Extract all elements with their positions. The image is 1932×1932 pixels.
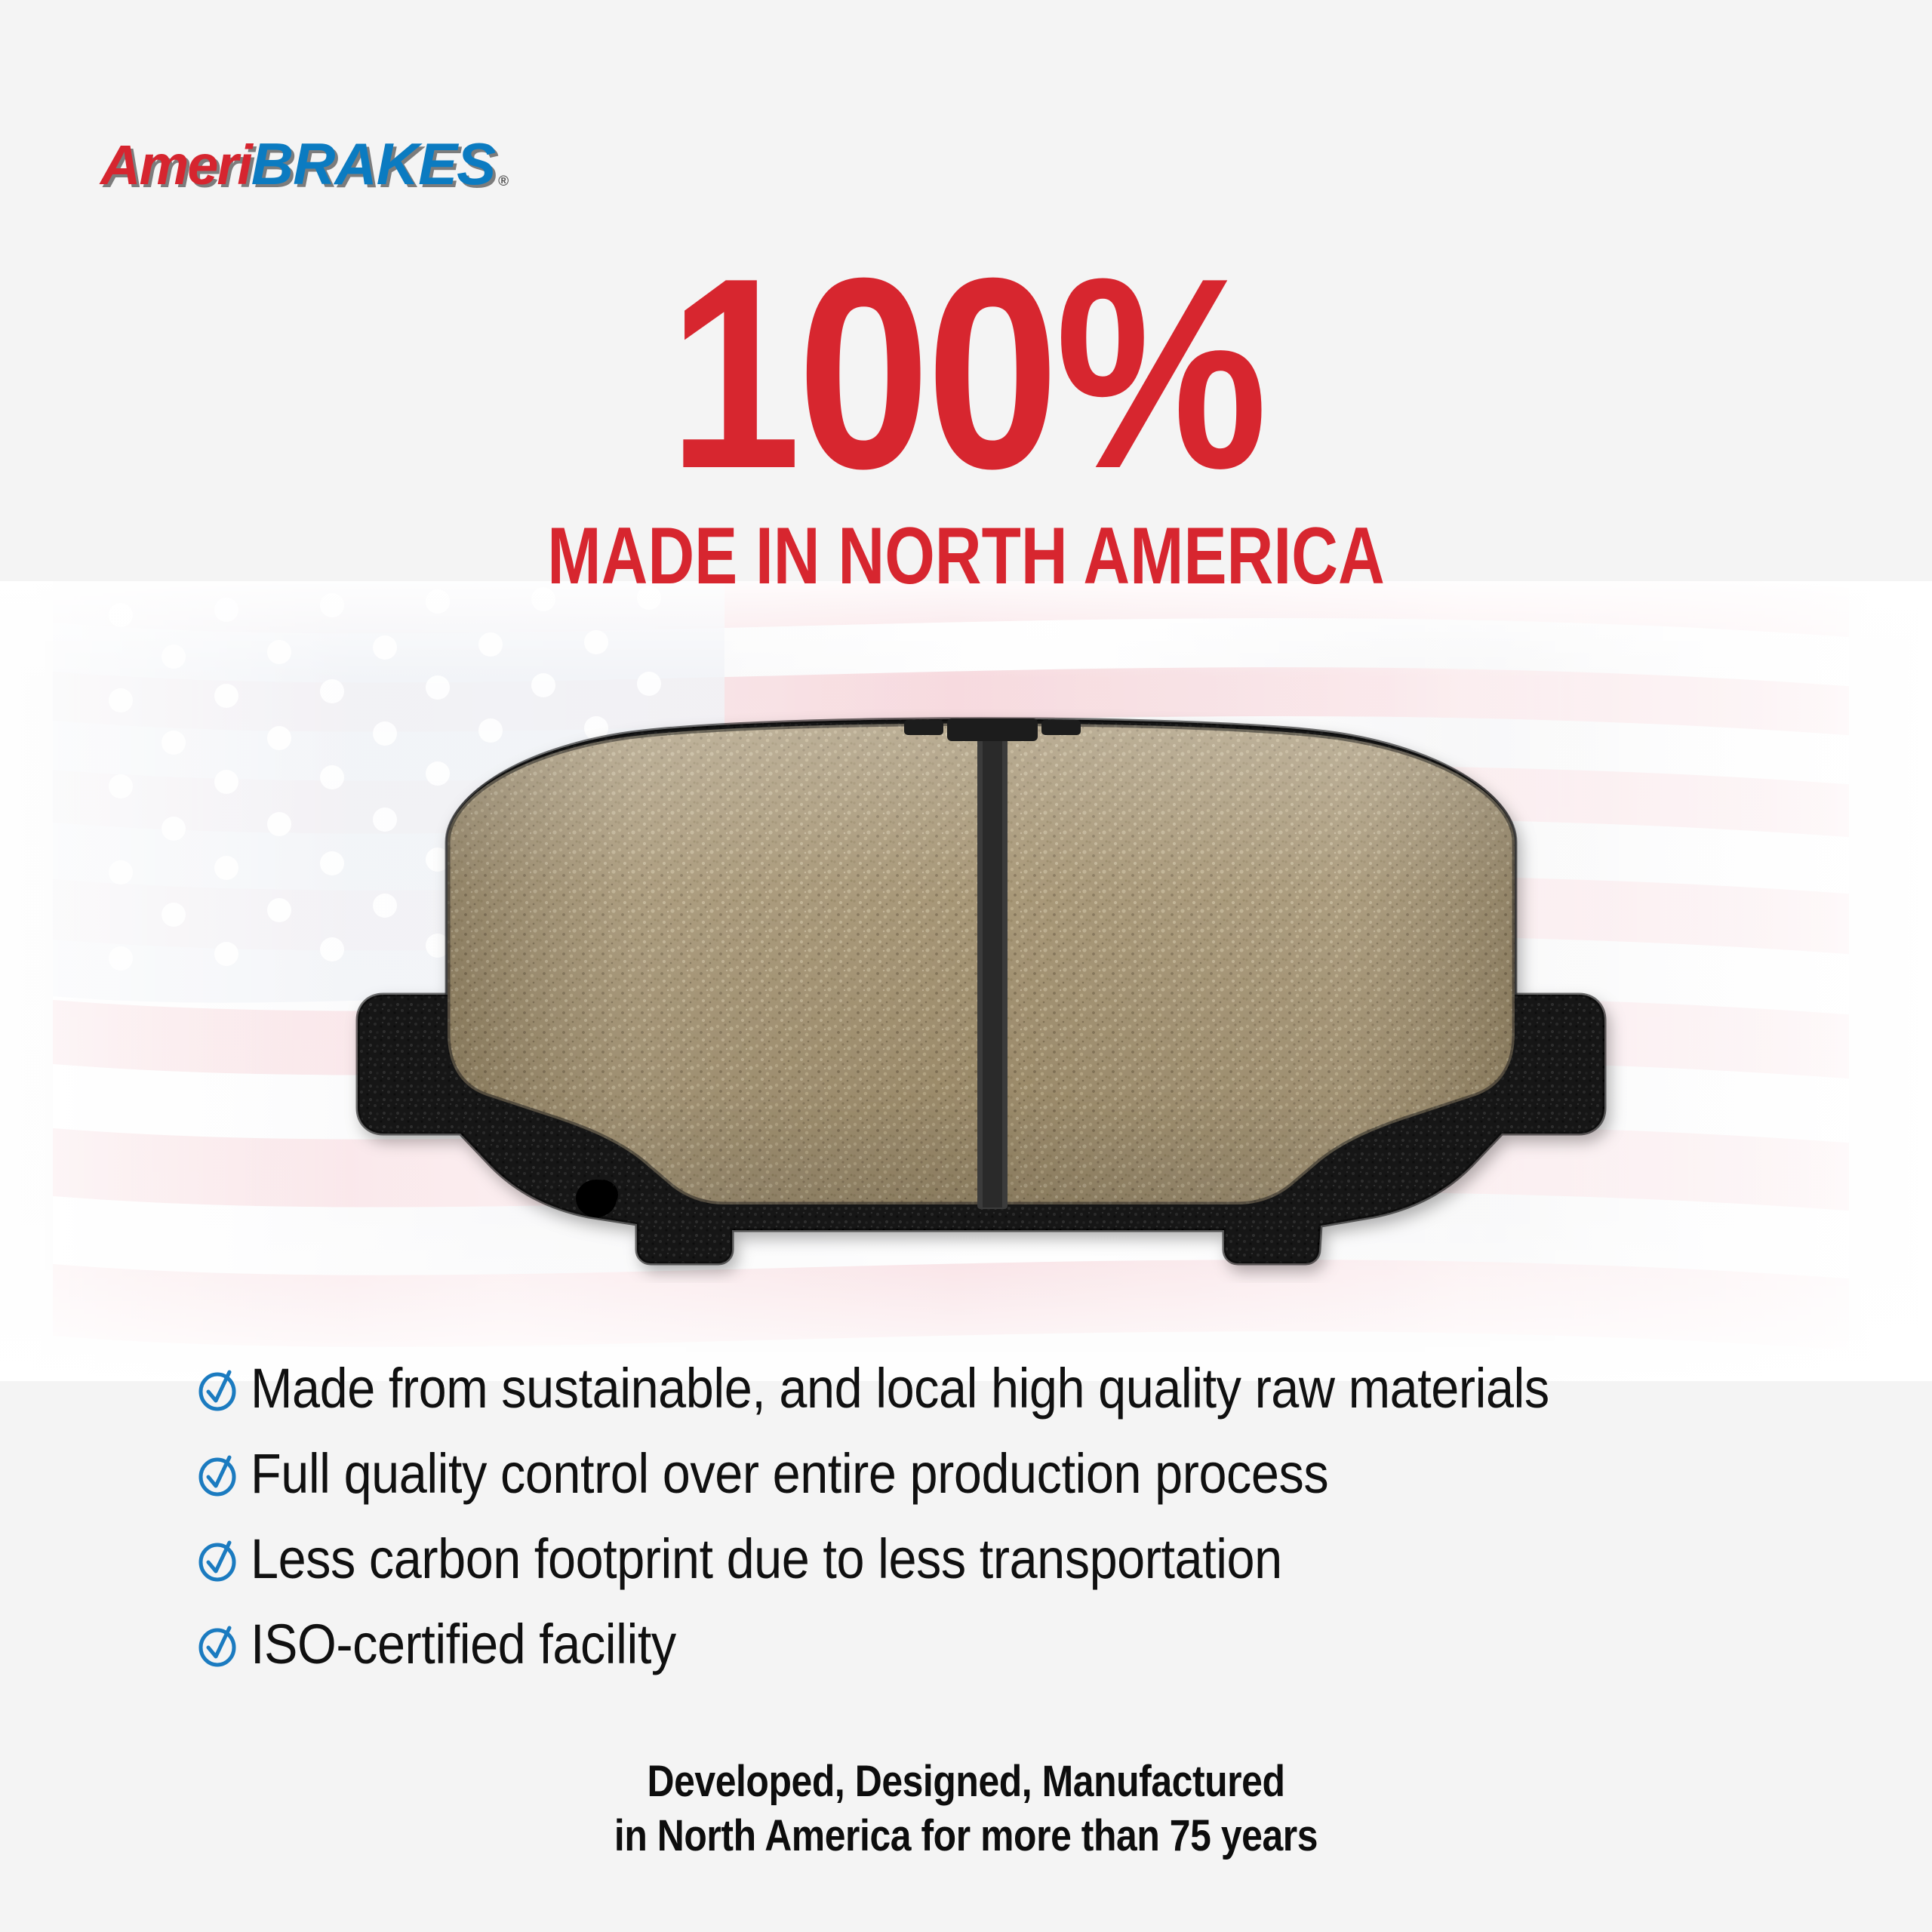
feature-label: ISO-certified facility: [251, 1614, 676, 1675]
registered-trademark-icon: ®: [498, 174, 509, 189]
footer-block: Developed, Designed, Manufactured in Nor…: [0, 1755, 1932, 1863]
footer-line-2: in North America for more than 75 years: [135, 1809, 1797, 1863]
check-circle-icon: [198, 1453, 237, 1497]
logo-text-brakes: BRAKES: [251, 134, 495, 193]
product-image-brake-pad: [264, 709, 1698, 1283]
feature-label: Full quality control over entire product…: [251, 1444, 1328, 1504]
list-item: Less carbon footprint due to less transp…: [198, 1529, 1745, 1589]
check-circle-icon: [198, 1367, 237, 1411]
feature-list: Made from sustainable, and local high qu…: [198, 1358, 1745, 1700]
list-item: Made from sustainable, and local high qu…: [198, 1358, 1745, 1419]
check-circle-icon: [198, 1623, 237, 1667]
check-circle-icon: [198, 1538, 237, 1582]
brake-pad-icon: [264, 709, 1698, 1283]
headline-percent: 100%: [116, 249, 1817, 499]
feature-label: Less carbon footprint due to less transp…: [251, 1529, 1282, 1589]
feature-label: Made from sustainable, and local high qu…: [251, 1358, 1549, 1419]
brand-logo[interactable]: Ameri BRAKES ®: [100, 134, 509, 193]
headline-block: 100% MADE IN NORTH AMERICA: [0, 249, 1932, 596]
logo-text-ameri: Ameri: [100, 137, 251, 193]
list-item: Full quality control over entire product…: [198, 1444, 1745, 1504]
headline-subtitle: MADE IN NORTH AMERICA: [193, 515, 1739, 596]
marketing-banner: Ameri BRAKES ® 100% MADE IN NORTH AMERIC…: [0, 0, 1932, 1932]
list-item: ISO-certified facility: [198, 1614, 1745, 1675]
footer-line-1: Developed, Designed, Manufactured: [135, 1755, 1797, 1809]
